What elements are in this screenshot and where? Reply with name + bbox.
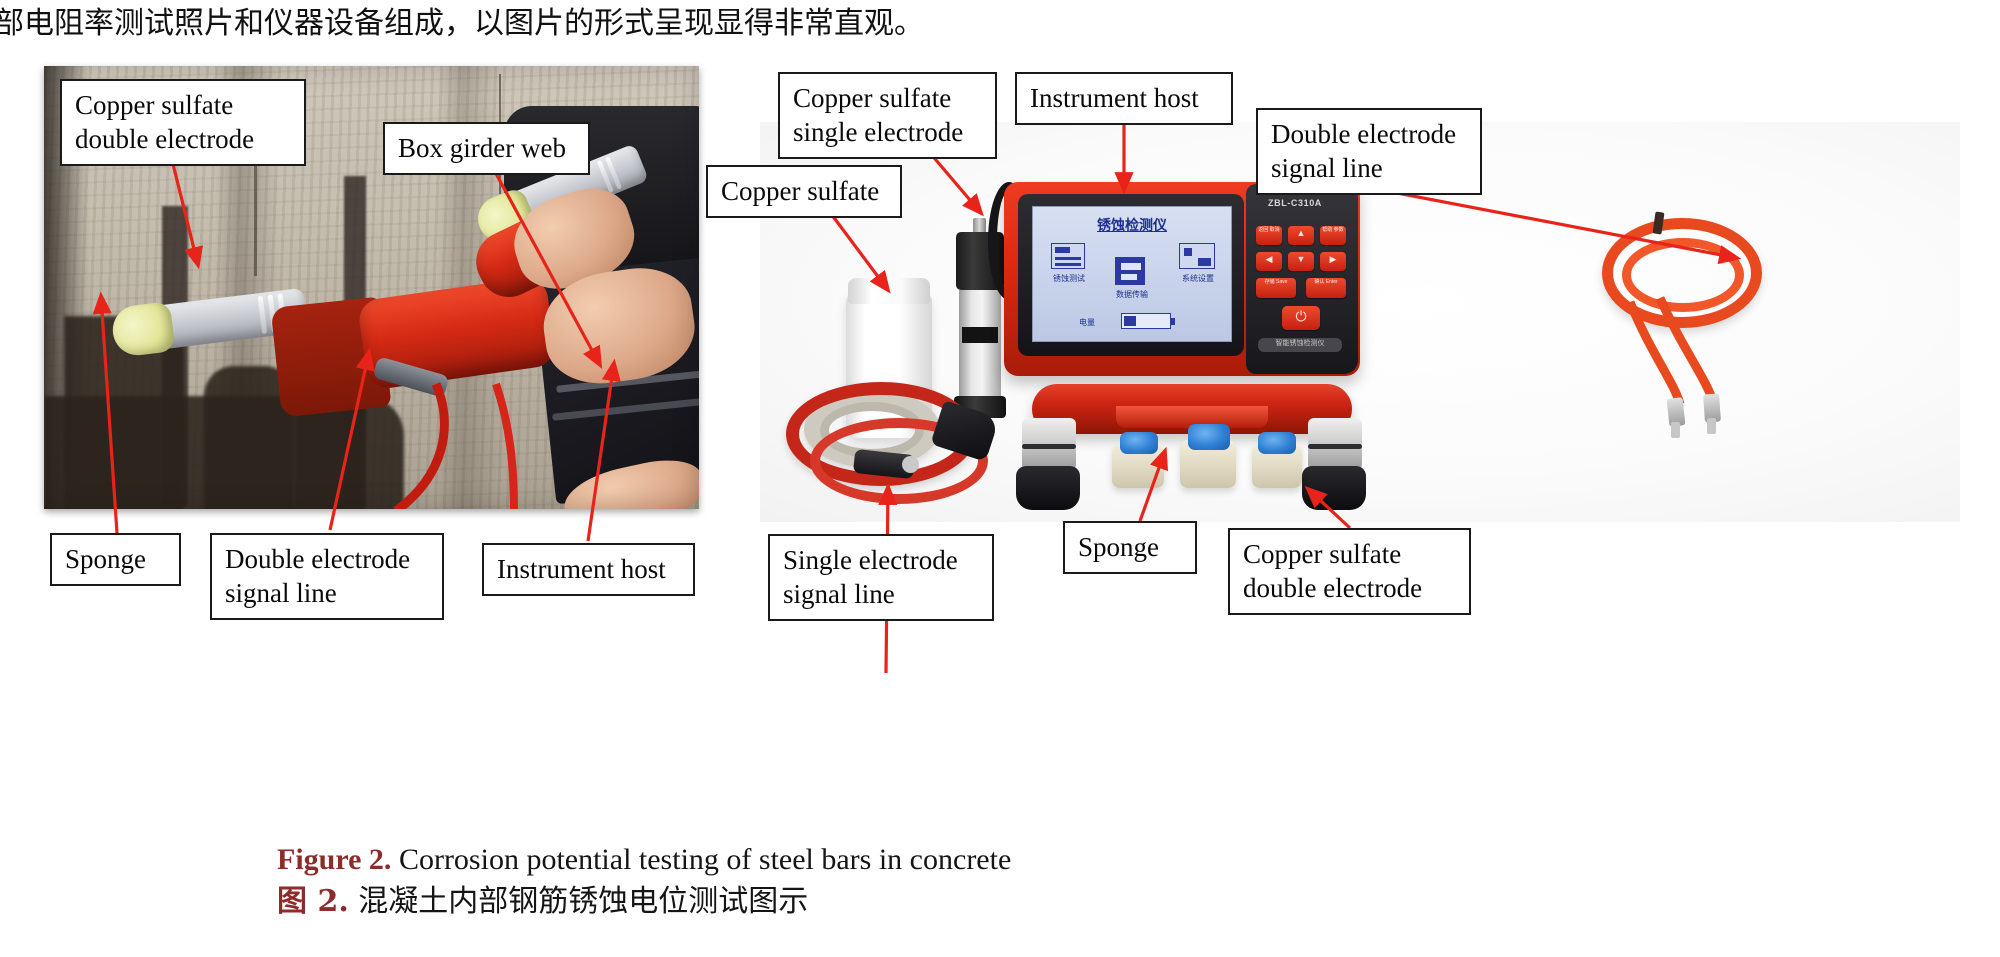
copper-sulfate-bottle-cap: [848, 278, 930, 304]
figure-caption: Figure 2. Corrosion potential testing of…: [277, 840, 1677, 924]
double-electrode-left-ring: [1022, 444, 1076, 449]
label-double-electrode-signal-line-left[interactable]: Double electrode signal line: [210, 533, 444, 620]
caption-line-zh: 图 2. 混凝土内部钢筋锈蚀电位测试图示: [277, 880, 1677, 924]
key-save[interactable]: 存储 Save: [1256, 278, 1296, 298]
label-instrument-host-left[interactable]: Instrument host: [482, 543, 695, 596]
screen-label-battery: 电量: [1059, 317, 1095, 328]
caption-line-en: Figure 2. Corrosion potential testing of…: [277, 840, 1677, 880]
figure-page: 部电阻率测试照片和仪器设备组成，以图片的形式呈现显得非常直观。: [0, 0, 2000, 957]
key-left[interactable]: ◀: [1256, 252, 1282, 271]
screen-icon-test[interactable]: [1051, 243, 1085, 269]
label-double-electrode-signal-line-right[interactable]: Double electrode signal line: [1256, 108, 1482, 195]
key-power[interactable]: ⏻: [1282, 306, 1320, 330]
single-electrode-label: [962, 327, 998, 343]
label-copper-sulfate-double-electrode-left[interactable]: Copper sulfate double electrode: [60, 79, 306, 166]
label-copper-sulfate[interactable]: Copper sulfate: [706, 165, 902, 218]
instrument-brand-plate: 智能锈蚀检测仪: [1258, 338, 1342, 352]
screen-icon-settings[interactable]: [1179, 243, 1215, 269]
screen-label-test: 锈蚀测试: [1041, 273, 1097, 284]
key-up[interactable]: ▲: [1288, 226, 1314, 245]
body-text-line: 部电阻率测试照片和仪器设备组成，以图片的形式呈现显得非常直观。: [0, 2, 1394, 46]
bnc-tip-1: [1671, 422, 1680, 438]
key-down[interactable]: ▼: [1288, 252, 1314, 271]
caption-en-text: Corrosion potential testing of steel bar…: [391, 843, 1011, 876]
label-sponge-left[interactable]: Sponge: [50, 533, 181, 586]
label-sponge-right[interactable]: Sponge: [1063, 521, 1197, 574]
instrument-model-text: ZBL-C310A: [1268, 198, 1322, 208]
caption-zh-text: 混凝土内部钢筋锈蚀电位测试图示: [349, 884, 809, 919]
instrument-host-screen: 锈蚀检测仪 锈蚀测试 系统设置 数据传输 电量: [1032, 206, 1232, 342]
signal-line-plug-face: [902, 456, 919, 473]
key-help[interactable]: 帮助 参数: [1320, 226, 1346, 245]
screen-title: 锈蚀检测仪: [1033, 215, 1231, 235]
double-electrode-right-ring: [1308, 444, 1362, 449]
double-electrode-cable-tails: [1590, 272, 1810, 412]
key-right[interactable]: ▶: [1320, 252, 1346, 271]
bnc-tip-2: [1707, 418, 1716, 434]
label-instrument-host-right[interactable]: Instrument host: [1015, 72, 1233, 125]
double-electrode-right-tip: [1302, 466, 1366, 510]
label-copper-sulfate-double-electrode-right[interactable]: Copper sulfate double electrode: [1228, 528, 1471, 615]
label-copper-sulfate-single-electrode[interactable]: Copper sulfate single electrode: [778, 72, 997, 159]
single-electrode-body: [959, 290, 1001, 396]
battery-nub: [1171, 318, 1175, 325]
key-back[interactable]: 返回 取消: [1256, 226, 1282, 245]
sponge-2-top: [1188, 424, 1230, 450]
screen-label-transfer: 数据传输: [1103, 289, 1161, 300]
sponge-1-top: [1120, 432, 1158, 454]
sponge-3-top: [1258, 432, 1296, 454]
caption-en-prefix: Figure 2.: [277, 843, 391, 876]
double-electrode-left-tip: [1016, 466, 1080, 510]
label-box-girder-web[interactable]: Box girder web: [383, 122, 590, 175]
screen-icon-transfer[interactable]: [1115, 257, 1145, 285]
screen-label-settings: 系统设置: [1169, 273, 1227, 284]
caption-zh-prefix: 图 2.: [277, 884, 349, 919]
key-enter[interactable]: 确认 Enter: [1306, 278, 1346, 298]
battery-indicator: [1121, 313, 1171, 329]
label-single-electrode-signal-line[interactable]: Single electrode signal line: [768, 534, 994, 621]
